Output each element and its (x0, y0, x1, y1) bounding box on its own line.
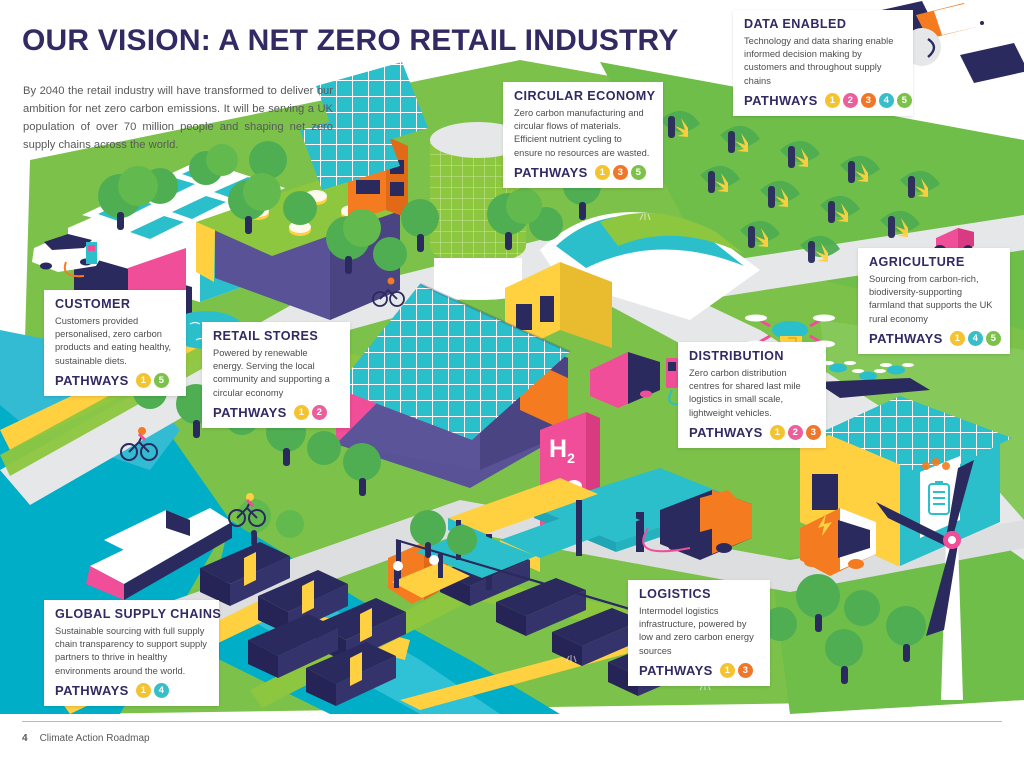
pathways-row: PATHWAYS 14 (55, 683, 208, 698)
callout-title: CIRCULAR ECONOMY (514, 89, 652, 104)
pathways-row: PATHWAYS 12 (213, 405, 339, 420)
pathway-badge-4[interactable]: 4 (968, 331, 983, 346)
infographic-page: H2 OUR VISION: A NET ZERO RETAIL INDUSTR… (0, 0, 1024, 757)
pathway-badge-2[interactable]: 2 (843, 93, 858, 108)
document-title: Climate Action Roadmap (40, 733, 150, 744)
pathway-badge-3[interactable]: 3 (613, 165, 628, 180)
callout-global-supply-chains[interactable]: GLOBAL SUPPLY CHAINS Sustainable sourcin… (44, 600, 219, 706)
callout-title: AGRICULTURE (869, 255, 999, 270)
page-title: OUR VISION: A NET ZERO RETAIL INDUSTRY (22, 24, 679, 58)
pathway-badges: 13 (720, 663, 753, 678)
pathway-badge-1[interactable]: 1 (294, 405, 309, 420)
page-number: 4 (22, 733, 28, 744)
footer-divider (22, 721, 1002, 722)
callout-agriculture[interactable]: AGRICULTURE Sourcing from carbon-rich, b… (858, 248, 1010, 354)
callout-body: Zero carbon manufacturing and circular f… (514, 107, 652, 160)
pathways-label: PATHWAYS (55, 683, 129, 698)
footer: 4 Climate Action Roadmap (22, 733, 150, 744)
pathway-badge-5[interactable]: 5 (897, 93, 912, 108)
pathway-badges: 145 (950, 331, 1001, 346)
callout-retail-stores[interactable]: RETAIL STORES Powered by renewable energ… (202, 322, 350, 428)
callout-title: DATA ENABLED (744, 17, 902, 32)
pathway-badge-1[interactable]: 1 (136, 373, 151, 388)
pathway-badges: 12 (294, 405, 327, 420)
pathways-label: PATHWAYS (213, 405, 287, 420)
hydrogen-label-subscript: 2 (567, 450, 575, 466)
pathways-row: PATHWAYS 12345 (744, 93, 902, 108)
pathway-badge-4[interactable]: 4 (879, 93, 894, 108)
pathways-label: PATHWAYS (55, 373, 129, 388)
callout-body: Sustainable sourcing with full supply ch… (55, 625, 208, 678)
pathways-row: PATHWAYS 13 (639, 663, 759, 678)
pathways-row: PATHWAYS 15 (55, 373, 175, 388)
ev-charger-icon (86, 242, 97, 264)
pathway-badge-2[interactable]: 2 (312, 405, 327, 420)
callout-circular-economy[interactable]: CIRCULAR ECONOMY Zero carbon manufacturi… (503, 82, 663, 188)
pathway-badge-1[interactable]: 1 (720, 663, 735, 678)
pathway-badge-5[interactable]: 5 (631, 165, 646, 180)
pathway-badge-1[interactable]: 1 (595, 165, 610, 180)
pathway-badge-1[interactable]: 1 (770, 425, 785, 440)
pathway-badge-5[interactable]: 5 (154, 373, 169, 388)
pathway-badges: 14 (136, 683, 169, 698)
callout-title: DISTRIBUTION (689, 349, 815, 364)
pathway-badge-3[interactable]: 3 (738, 663, 753, 678)
callout-title: LOGISTICS (639, 587, 759, 602)
pathway-badges: 123 (770, 425, 821, 440)
pathway-badge-1[interactable]: 1 (136, 683, 151, 698)
callout-body: Intermodel logistics infrastructure, pow… (639, 605, 759, 658)
pathways-row: PATHWAYS 123 (689, 425, 815, 440)
callout-title: GLOBAL SUPPLY CHAINS (55, 607, 208, 622)
callout-body: Powered by renewable energy. Serving the… (213, 347, 339, 400)
pathways-label: PATHWAYS (639, 663, 713, 678)
callout-body: Technology and data sharing enable infor… (744, 35, 902, 88)
pathway-badge-1[interactable]: 1 (825, 93, 840, 108)
pathway-badge-2[interactable]: 2 (788, 425, 803, 440)
pathways-row: PATHWAYS 135 (514, 165, 652, 180)
hydrogen-label-h: H (549, 435, 567, 463)
callout-logistics[interactable]: LOGISTICS Intermodel logistics infrastru… (628, 580, 770, 686)
pathway-badges: 12345 (825, 93, 912, 108)
pathways-label: PATHWAYS (514, 165, 588, 180)
pathway-badge-3[interactable]: 3 (861, 93, 876, 108)
callout-body: Zero carbon distribution centres for sha… (689, 367, 815, 420)
pathways-label: PATHWAYS (744, 93, 818, 108)
callout-body: Sourcing from carbon-rich, biodiversity-… (869, 273, 999, 326)
callout-title: CUSTOMER (55, 297, 175, 312)
callout-data-enabled[interactable]: DATA ENABLED Technology and data sharing… (733, 10, 913, 116)
intro-paragraph: By 2040 the retail industry will have tr… (23, 82, 333, 155)
pathways-label: PATHWAYS (869, 331, 943, 346)
callout-distribution[interactable]: DISTRIBUTION Zero carbon distribution ce… (678, 342, 826, 448)
pathways-row: PATHWAYS 145 (869, 331, 999, 346)
pathway-badges: 135 (595, 165, 646, 180)
pathways-label: PATHWAYS (689, 425, 763, 440)
callout-title: RETAIL STORES (213, 329, 339, 344)
pathway-badge-4[interactable]: 4 (154, 683, 169, 698)
callout-customer[interactable]: CUSTOMER Customers provided personalised… (44, 290, 186, 396)
hydrogen-label: H2 (549, 437, 575, 465)
pathway-badges: 15 (136, 373, 169, 388)
callout-body: Customers provided personalised, zero ca… (55, 315, 175, 368)
pathway-badge-5[interactable]: 5 (986, 331, 1001, 346)
pathway-badge-3[interactable]: 3 (806, 425, 821, 440)
pathway-badge-1[interactable]: 1 (950, 331, 965, 346)
